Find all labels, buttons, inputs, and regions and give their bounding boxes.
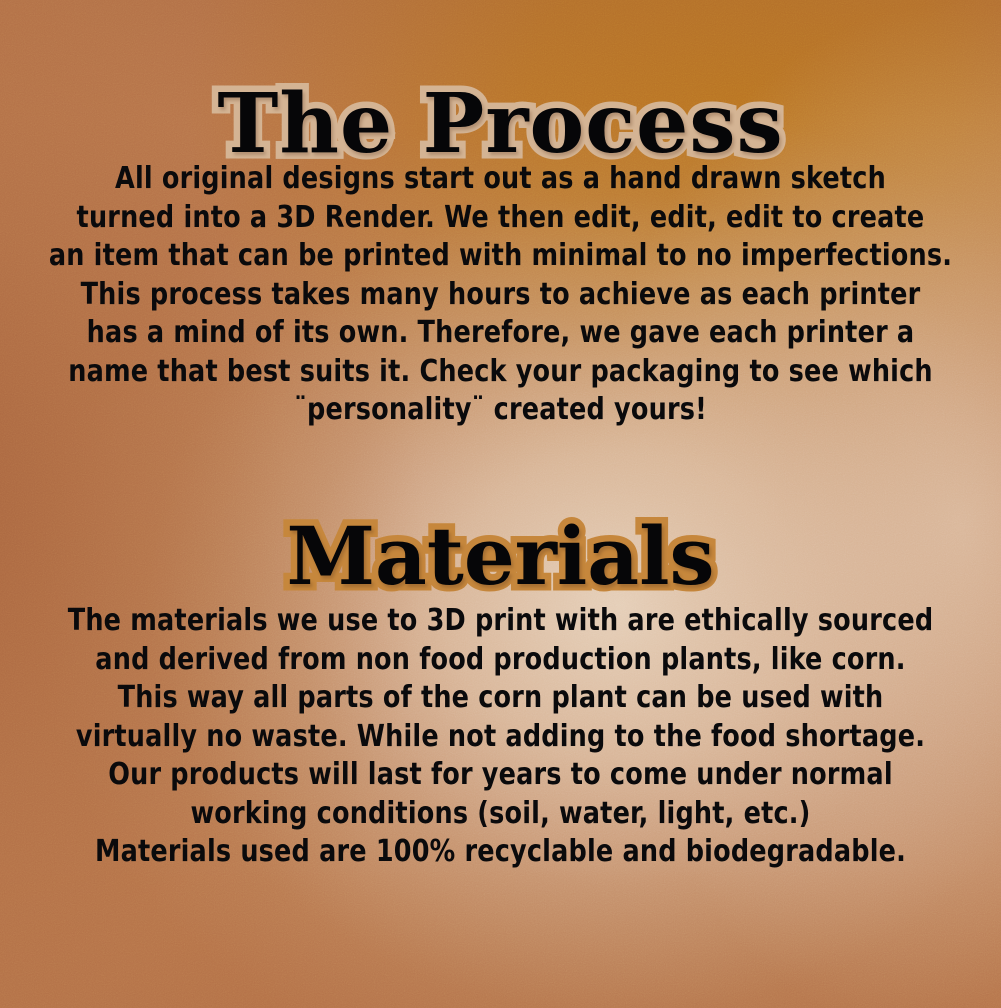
paragraph-line: an item that can be printed with minimal… [35, 237, 966, 276]
paragraph-line: Our products will last for years to come… [35, 756, 966, 795]
poster-content: The Process All original designs start o… [0, 0, 1001, 1008]
poster-canvas: The Process All original designs start o… [0, 0, 1001, 1008]
heading-the-process: The Process [0, 83, 1001, 165]
paragraph-line: Materials used are 100% recyclable and b… [35, 833, 966, 872]
paragraph-line: virtually no waste. While not adding to … [35, 718, 966, 757]
paragraph-line: working conditions (soil, water, light, … [35, 795, 966, 834]
paragraph-line: This process takes many hours to achieve… [35, 276, 966, 315]
paragraph-line: ¨personality¨ created yours! [35, 391, 966, 430]
paragraph-line: The materials we use to 3D print with ar… [35, 602, 966, 641]
paragraph-line: turned into a 3D Render. We then edit, e… [35, 199, 966, 238]
paragraph-materials: The materials we use to 3D print with ar… [35, 602, 966, 872]
paragraph-line: and derived from non food production pla… [35, 641, 966, 680]
paragraph-line: has a mind of its own. Therefore, we gav… [35, 314, 966, 353]
paragraph-line: This way all parts of the corn plant can… [35, 679, 966, 718]
paragraph-the-process: All original designs start out as a hand… [35, 160, 966, 430]
heading-materials: Materials [0, 516, 1001, 596]
paragraph-line: name that best suits it. Check your pack… [35, 353, 966, 392]
paragraph-line: All original designs start out as a hand… [35, 160, 966, 199]
